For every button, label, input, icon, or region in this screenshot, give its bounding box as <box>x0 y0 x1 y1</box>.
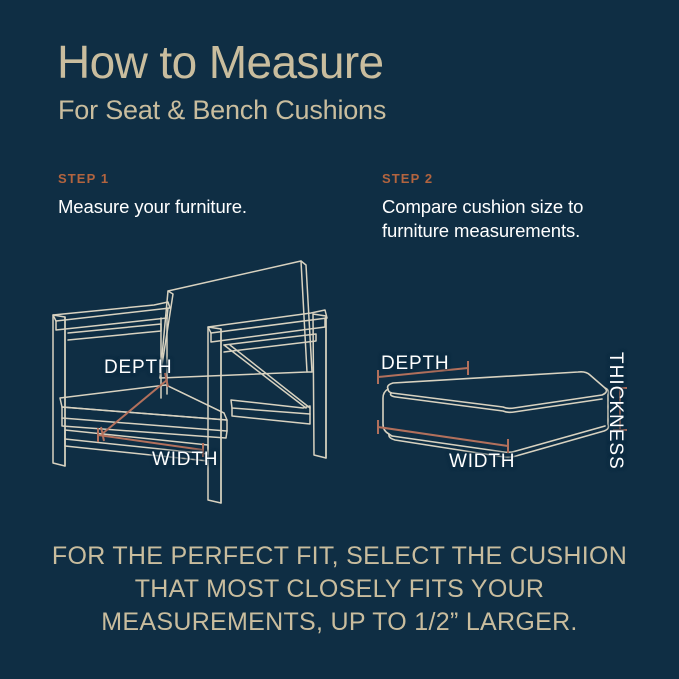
step-2-kicker: STEP 2 <box>382 172 652 185</box>
step-1-block: STEP 1 Measure your furniture. <box>58 172 358 219</box>
cushion-thickness-label: THICKNESS <box>604 352 626 470</box>
step-1-kicker: STEP 1 <box>58 172 358 185</box>
cushion-depth-label: DEPTH <box>381 353 449 375</box>
footer-instruction: FOR THE PERFECT FIT, SELECT THE CUSHION … <box>0 540 679 639</box>
step-2-block: STEP 2 Compare cushion size to furniture… <box>382 172 652 244</box>
chair-width-label: WIDTH <box>152 449 218 471</box>
step-2-description: Compare cushion size to furniture measur… <box>382 195 652 244</box>
page-title: How to Measure <box>57 38 384 86</box>
step-1-description: Measure your furniture. <box>58 195 358 219</box>
page-subtitle: For Seat & Bench Cushions <box>58 96 386 126</box>
how-to-measure-infographic: How to Measure For Seat & Bench Cushions… <box>0 0 679 679</box>
chair-depth-label: DEPTH <box>104 357 172 379</box>
cushion-width-label: WIDTH <box>449 451 515 473</box>
